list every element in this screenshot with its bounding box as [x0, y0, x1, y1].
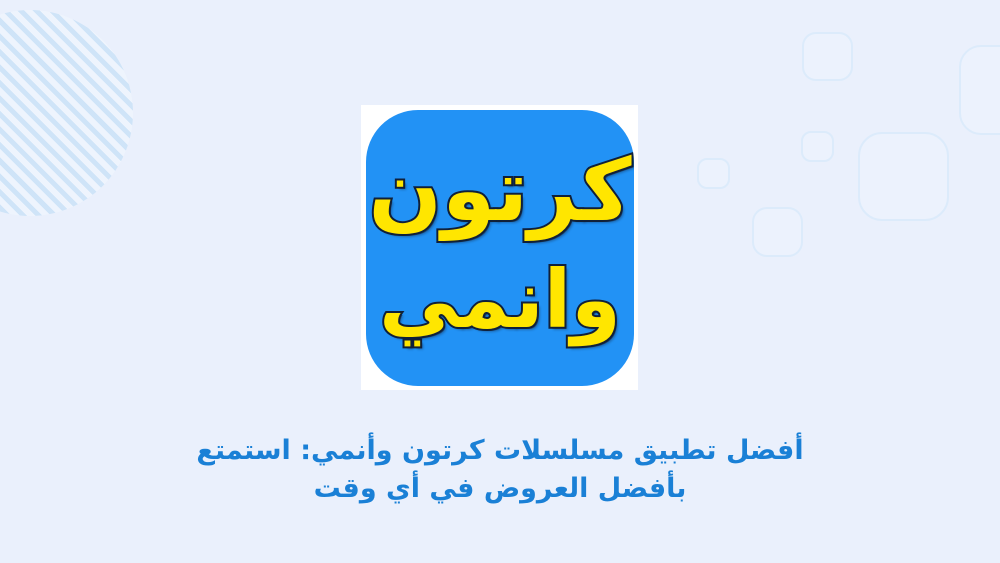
rounded-square-decoration-e-icon — [858, 132, 949, 221]
rounded-square-decoration-b-icon — [959, 45, 1000, 135]
cartoon-anime-app-icon[interactable]: كرتون وانمي — [366, 110, 634, 386]
promo-canvas: كرتون وانمي أفضل تطبيق مسلسلات كرتون وأن… — [0, 0, 1000, 563]
rounded-square-decoration-d-icon — [801, 131, 834, 162]
rounded-square-decoration-f-icon — [752, 207, 803, 257]
app-icon-text-line-1: كرتون — [366, 148, 634, 234]
app-icon-text-line-2: وانمي — [366, 260, 634, 340]
promo-caption: أفضل تطبيق مسلسلات كرتون وأنمي: استمتع ب… — [170, 432, 830, 509]
app-icon-backdrop: كرتون وانمي — [361, 105, 638, 390]
caption-line-2: بأفضل العروض في أي وقت — [170, 470, 830, 508]
rounded-square-decoration-c-icon — [697, 158, 730, 189]
rounded-square-decoration-a-icon — [802, 32, 853, 81]
caption-line-1: أفضل تطبيق مسلسلات كرتون وأنمي: استمتع — [170, 432, 830, 470]
striped-circle-decoration-icon — [0, 10, 133, 216]
